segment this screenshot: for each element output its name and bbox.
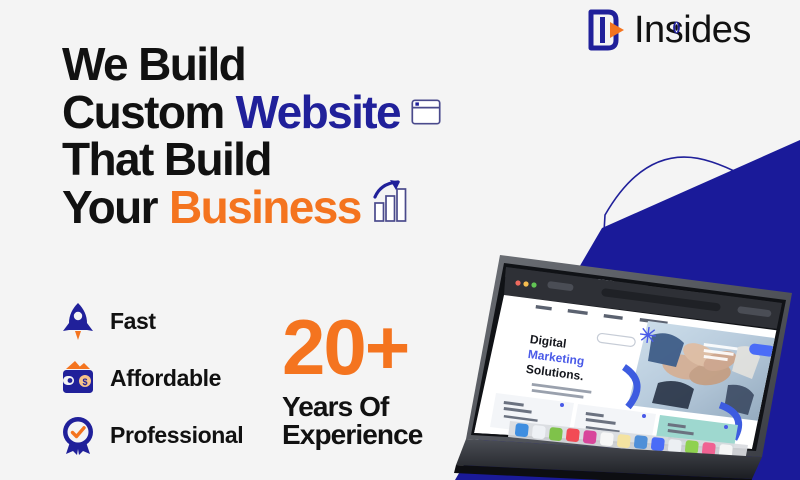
feature-list: Fast $ Affordable Professional	[60, 297, 243, 468]
stat-number: 20+	[282, 313, 422, 382]
feature-label: Fast	[110, 308, 156, 335]
headline-block: We Build Custom Website That Build Your …	[62, 42, 482, 230]
headline-text-that-build: That Build	[62, 137, 271, 183]
laptop-mockup: Digital Marketing Solutions.	[452, 243, 800, 480]
headline-text-your: Your	[62, 185, 157, 231]
headline-line-2: Custom Website	[62, 90, 482, 136]
promo-banner: Insides We Build Custom Website That Bui…	[0, 0, 800, 480]
headline-line-4: Your Business	[62, 185, 482, 231]
headline-text-custom: Custom	[62, 90, 224, 136]
feature-label: Professional	[110, 422, 243, 449]
rocket-icon	[60, 301, 96, 341]
brand-logo[interactable]: Insides	[586, 8, 751, 52]
headline-text-business: Business	[169, 185, 361, 231]
growth-chart-icon	[369, 179, 411, 223]
stat-caption-line-1: Years Of	[282, 393, 422, 422]
svg-text:$: $	[82, 377, 87, 387]
browser-window-icon	[411, 99, 441, 125]
feature-label: Affordable	[110, 365, 221, 392]
experience-stat: 20+ Years Of Experience	[282, 313, 422, 450]
wallet-icon: $	[60, 358, 96, 398]
headline-line-1: We Build	[62, 42, 482, 88]
brand-name: Insides	[634, 11, 751, 49]
headline-line-3: That Build	[62, 137, 482, 183]
eye-icon	[671, 21, 682, 34]
insides-play-logo-icon	[586, 8, 628, 52]
stat-caption-line-2: Experience	[282, 421, 422, 450]
headline-text-we-build: We Build	[62, 42, 245, 88]
award-badge-icon	[60, 415, 96, 455]
feature-item-fast: Fast	[60, 297, 243, 345]
feature-item-affordable: $ Affordable	[60, 354, 243, 402]
feature-item-professional: Professional	[60, 411, 243, 459]
headline-text-website: Website	[236, 90, 400, 136]
